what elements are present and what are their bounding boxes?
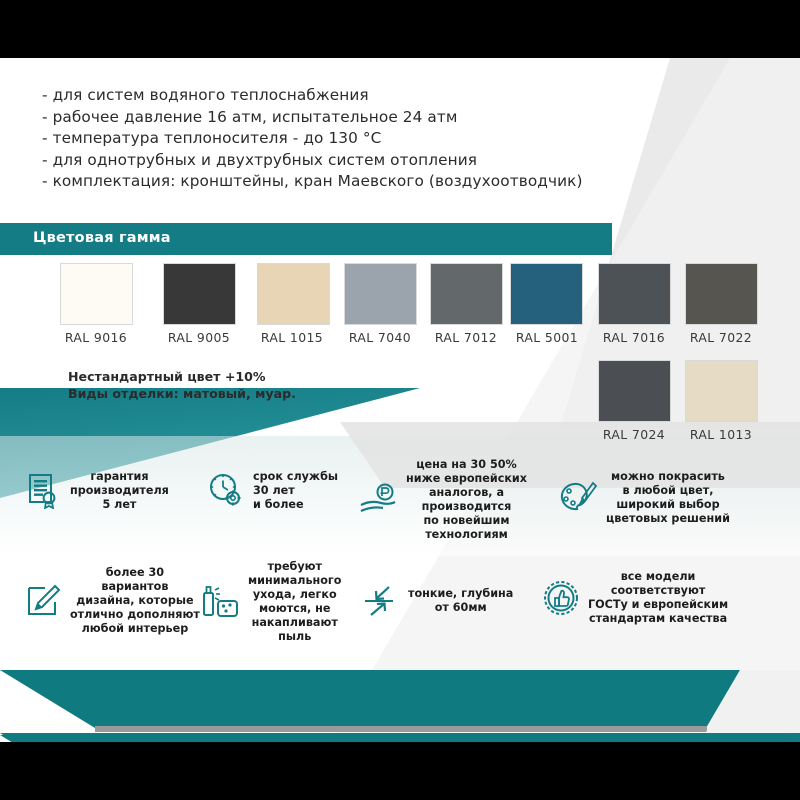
- feature-line: накапливают: [248, 616, 341, 630]
- feature-manufacturer-warranty: гарантия производителя 5 лет: [22, 470, 169, 512]
- feature-line: 5 лет: [70, 498, 169, 512]
- feature-line: от 60мм: [408, 601, 513, 615]
- clock-gear-icon: [205, 470, 247, 512]
- feature-line: цена на 30 50%: [406, 458, 527, 472]
- custom-color-note: Нестандартный цвет +10% Виды отделки: ма…: [68, 368, 296, 402]
- color-swatch-label: RAL 5001: [504, 330, 590, 345]
- feature-line: аналогов, а: [406, 486, 527, 500]
- certificate-icon: [22, 470, 64, 512]
- feature-line: тонкие, глубина: [408, 587, 513, 601]
- quality-thumb-icon: [540, 577, 582, 619]
- feature-line: ниже европейских: [406, 472, 527, 486]
- note-line: Нестандартный цвет +10%: [68, 368, 296, 385]
- color-swatch-ral7012: [430, 263, 503, 325]
- depth-arrows-icon: [360, 580, 402, 622]
- color-swatch-label: RAL 7040: [337, 330, 423, 345]
- feature-line: ухода, легко: [248, 588, 341, 602]
- feature-slim-depth: тонкие, глубина от 60мм: [360, 580, 513, 622]
- feature-line: минимального: [248, 574, 341, 588]
- feature-text: тонкие, глубина от 60мм: [402, 587, 513, 615]
- feature-line: технологиям: [406, 528, 527, 542]
- palette-brush-icon: [558, 477, 600, 519]
- color-swatch-ral7040: [344, 263, 417, 325]
- feature-text: цена на 30 50% ниже европейских аналогов…: [400, 458, 527, 542]
- feature-text: требуют минимального ухода, легко моются…: [242, 560, 341, 644]
- color-swatch-ral9005: [163, 263, 236, 325]
- feature-text: можно покрасить в любой цвет, широкий вы…: [600, 470, 730, 526]
- color-swatch-ral1013: [685, 360, 758, 422]
- color-swatch-label: RAL 9005: [156, 330, 242, 345]
- feature-line: моются, не: [248, 602, 341, 616]
- feature-line: гарантия: [70, 470, 169, 484]
- color-swatch-label: RAL 7012: [423, 330, 509, 345]
- feature-line: 30 лет: [253, 484, 338, 498]
- feature-line: широкий выбор: [606, 498, 730, 512]
- color-range-banner: Цветовая гамма: [0, 223, 612, 255]
- hand-ruble-icon: [358, 479, 400, 521]
- feature-line: дизайна, которые: [70, 594, 200, 608]
- feature-quality-standards: все модели соответствуют ГОСТу и европей…: [540, 570, 728, 626]
- feature-line: пыль: [248, 630, 341, 644]
- bottom-band-teal: [0, 670, 800, 728]
- spec-line: - рабочее давление 16 атм, испытательное…: [42, 107, 642, 129]
- feature-line: соответствуют: [588, 584, 728, 598]
- color-swatch-ral7022: [685, 263, 758, 325]
- feature-line: срок службы: [253, 470, 338, 484]
- color-swatch-ral7016: [598, 263, 671, 325]
- color-swatch-ral7024: [598, 360, 671, 422]
- color-swatch-label: RAL 1015: [249, 330, 335, 345]
- color-swatch-label: RAL 7024: [591, 427, 677, 442]
- feature-easy-care: требуют минимального ухода, легко моются…: [200, 560, 341, 644]
- feature-custom-paint: можно покрасить в любой цвет, широкий вы…: [558, 470, 730, 526]
- color-swatch-label: RAL 9016: [53, 330, 139, 345]
- feature-line: в любой цвет,: [606, 484, 730, 498]
- color-swatch-ral1015: [257, 263, 330, 325]
- color-swatch-label: RAL 7016: [591, 330, 677, 345]
- color-swatch-ral5001: [510, 263, 583, 325]
- feature-text: все модели соответствуют ГОСТу и европей…: [582, 570, 728, 626]
- feature-price-advantage: цена на 30 50% ниже европейских аналогов…: [358, 458, 527, 542]
- feature-line: отлично дополняют: [70, 608, 200, 622]
- spec-line: - для однотрубных и двухтрубных систем о…: [42, 150, 642, 172]
- slide-canvas: - для систем водяного теплоснабжения - р…: [0, 58, 800, 742]
- feature-text: более 30 вариантов дизайна, которые отли…: [64, 566, 200, 636]
- feature-design-variants: более 30 вариантов дизайна, которые отли…: [22, 566, 200, 636]
- feature-line: производителя: [70, 484, 169, 498]
- spray-clean-icon: [200, 581, 242, 623]
- feature-service-life: срок службы 30 лет и более: [205, 470, 338, 512]
- pencil-icon: [22, 580, 64, 622]
- color-range-title: Цветовая гамма: [33, 230, 171, 246]
- feature-text: срок службы 30 лет и более: [247, 470, 338, 512]
- feature-line: ГОСТу и европейским: [588, 598, 728, 612]
- feature-line: требуют: [248, 560, 341, 574]
- feature-line: все модели: [588, 570, 728, 584]
- feature-line: любой интерьер: [70, 622, 200, 636]
- spec-line: - комплектация: кронштейны, кран Маевско…: [42, 171, 642, 193]
- feature-line: и более: [253, 498, 338, 512]
- feature-line: вариантов: [70, 580, 200, 594]
- feature-line: по новейшим: [406, 514, 527, 528]
- bottom-band-shadow: [95, 726, 707, 732]
- bottom-band-wrap: [0, 670, 800, 742]
- feature-line: более 30: [70, 566, 200, 580]
- feature-line: цветовых решений: [606, 512, 730, 526]
- feature-line: можно покрасить: [606, 470, 730, 484]
- note-line: Виды отделки: матовый, муар.: [68, 385, 296, 402]
- spec-line: - для систем водяного теплоснабжения: [42, 85, 642, 107]
- feature-line: стандартам качества: [588, 612, 728, 626]
- color-swatch-ral9016: [60, 263, 133, 325]
- specs-list: - для систем водяного теплоснабжения - р…: [42, 85, 642, 193]
- color-swatch-label: RAL 1013: [678, 427, 764, 442]
- color-swatch-label: RAL 7022: [678, 330, 764, 345]
- feature-line: производится: [406, 500, 527, 514]
- feature-text: гарантия производителя 5 лет: [64, 470, 169, 512]
- spec-line: - температура теплоносителя - до 130 °C: [42, 128, 642, 150]
